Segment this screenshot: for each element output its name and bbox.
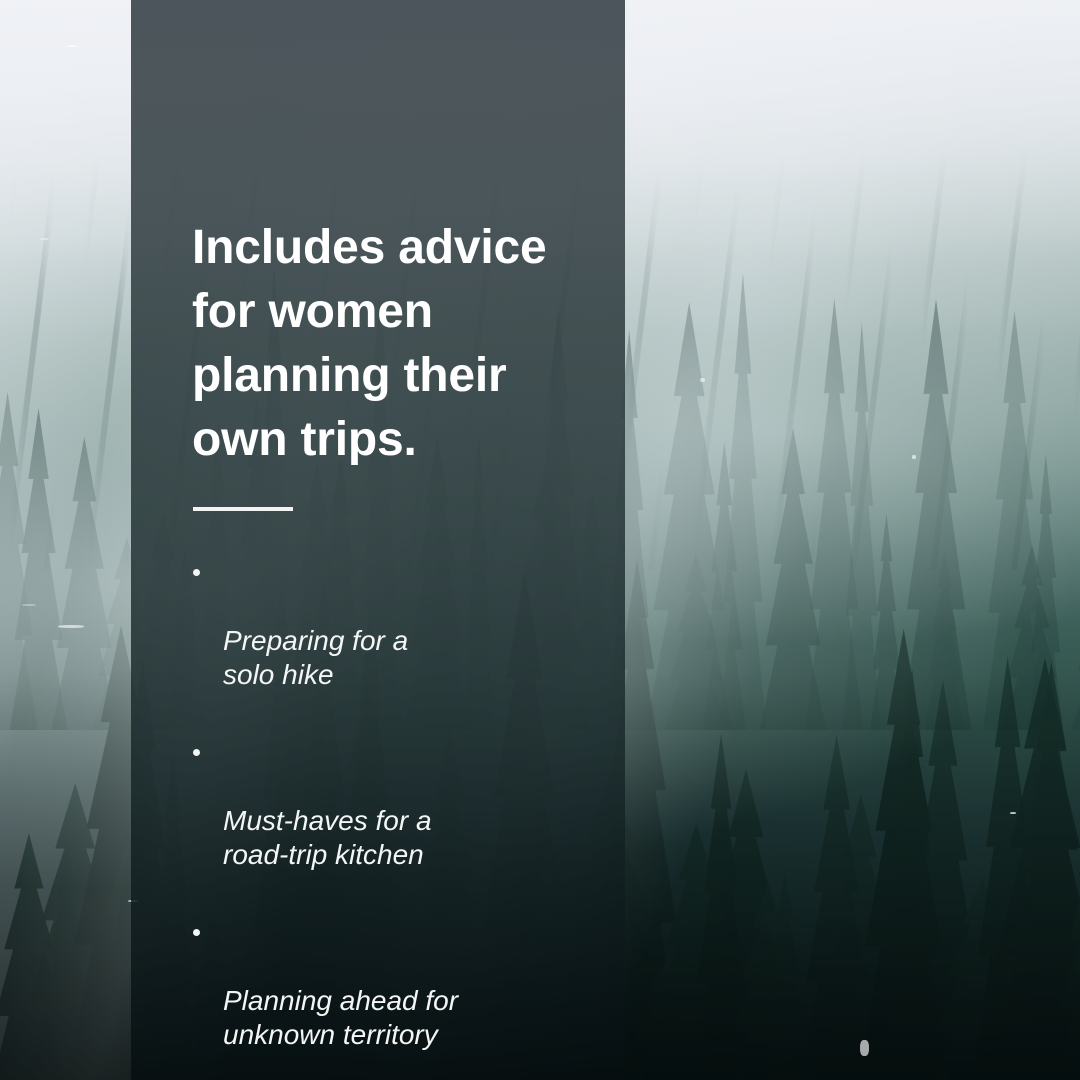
- page-title: Includes advice for women planning their…: [192, 216, 587, 472]
- list-item-label: Preparing for a solo hike: [223, 625, 408, 690]
- list-item: Planning ahead for unknown territory: [192, 916, 592, 1052]
- list-item-label: Must-haves for a road-trip kitchen: [223, 805, 432, 870]
- list-item-label: Planning ahead for unknown territory: [223, 985, 458, 1050]
- panel-content: Includes advice for women planning their…: [192, 0, 592, 1080]
- feature-bullet-list: Preparing for a solo hike Must-haves for…: [192, 556, 592, 1080]
- promo-graphic-canvas: Includes advice for women planning their…: [0, 0, 1080, 1080]
- bullet-dot-icon: [193, 569, 200, 576]
- list-item: Preparing for a solo hike: [192, 556, 592, 692]
- list-item: Must-haves for a road-trip kitchen: [192, 736, 592, 872]
- title-divider-rule: [193, 507, 293, 511]
- bullet-dot-icon: [193, 929, 200, 936]
- bullet-dot-icon: [193, 749, 200, 756]
